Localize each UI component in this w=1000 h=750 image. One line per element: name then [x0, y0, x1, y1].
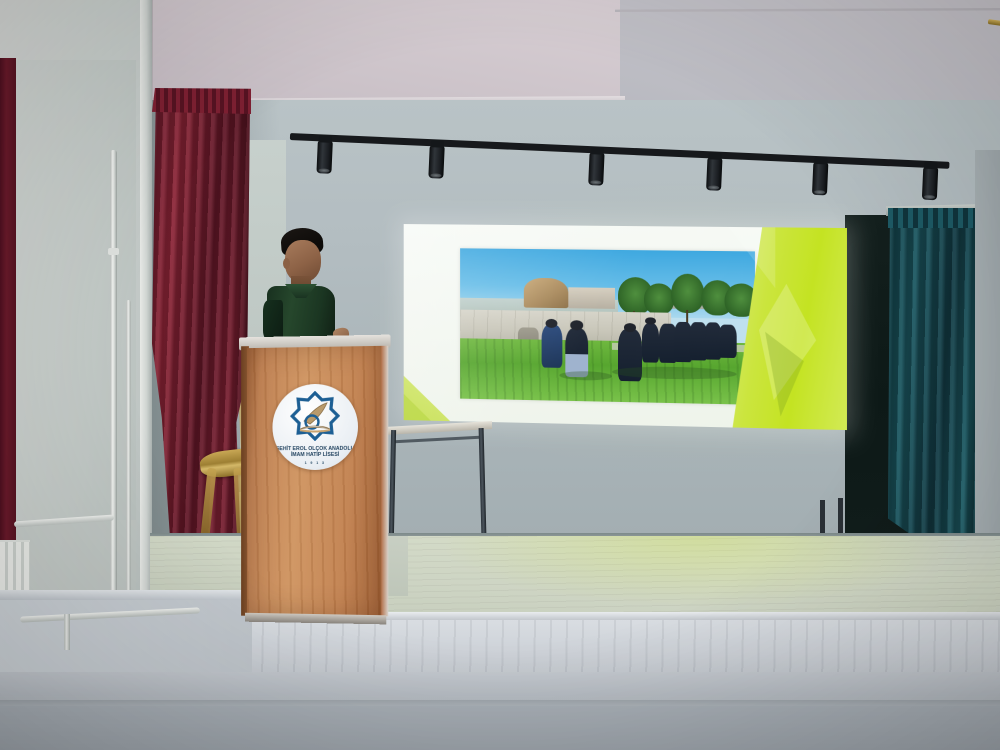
stage-handrail-post — [64, 614, 70, 650]
table-top — [384, 421, 492, 435]
photo-tree-3 — [671, 273, 704, 313]
track-light-fixture-4[interactable] — [706, 157, 722, 191]
left-wall-corner-edge — [140, 0, 152, 620]
stage-floor-light-reflection — [440, 536, 960, 606]
photo-building-left — [568, 287, 615, 309]
wall-pipe-vertical-2 — [126, 300, 131, 630]
lectern[interactable]: ŞEHİT EROL OLÇOK ANADOLU İMAM HATİP LİSE… — [241, 335, 388, 620]
track-light-fixture-3[interactable] — [588, 152, 604, 186]
stage-front-face — [150, 620, 1000, 678]
photo-tree-2 — [644, 284, 674, 315]
track-light-fixture-2[interactable] — [428, 145, 444, 179]
stage-step-left-top — [0, 590, 254, 600]
track-light-fixture-6[interactable] — [922, 167, 938, 201]
curtain-right-teal[interactable] — [888, 208, 986, 553]
photo-person-9 — [719, 324, 737, 358]
table-leg-right — [479, 428, 487, 536]
photo-person-4 — [642, 323, 660, 363]
emblem-year: 1 9 1 3 — [272, 461, 358, 465]
speaker-ear — [283, 258, 290, 269]
stage-step-left-block — [0, 596, 252, 678]
wall-pipe-vertical-1 — [110, 150, 117, 630]
folding-table[interactable] — [384, 424, 496, 546]
pipe-clamp — [108, 248, 119, 255]
emblem-text: ŞEHİT EROL OLÇOK ANADOLU İMAM HATİP LİSE… — [272, 445, 358, 458]
photo-person-2 — [565, 328, 588, 377]
photo-person-1-head — [546, 319, 558, 328]
table-leg-left — [389, 430, 396, 538]
emblem-text-line-2: İMAM HATİP LİSESİ — [272, 452, 358, 458]
eight-pointed-star-icon — [290, 391, 340, 441]
photo-person-1 — [541, 325, 561, 368]
hall-floor — [0, 706, 1000, 750]
auditorium-photo: ŞEHİT EROL OLÇOK ANADOLU İMAM HATİP LİSE… — [0, 0, 1000, 750]
slide-photo — [460, 248, 755, 405]
curtain-right-pleat-header — [888, 208, 986, 228]
student-speaker — [263, 228, 349, 348]
curtain-far-left-sliver — [0, 58, 16, 618]
track-light-fixture-5[interactable] — [812, 162, 828, 196]
speaker-sleeve — [263, 300, 283, 340]
table-cross-rail — [392, 436, 482, 444]
lectern-right-edge — [381, 346, 388, 617]
track-light-fixture-1[interactable] — [316, 140, 332, 174]
photo-stone-monument — [524, 278, 568, 309]
far-right-wall — [975, 150, 1000, 580]
projected-slide — [404, 224, 847, 430]
photo-person-2-head — [571, 321, 583, 331]
emblem-text-line-1: ŞEHİT EROL OLÇOK ANADOLU — [272, 445, 358, 452]
curtain-left-pleat-header — [152, 88, 251, 114]
school-emblem: ŞEHİT EROL OLÇOK ANADOLU İMAM HATİP LİSE… — [272, 383, 358, 470]
